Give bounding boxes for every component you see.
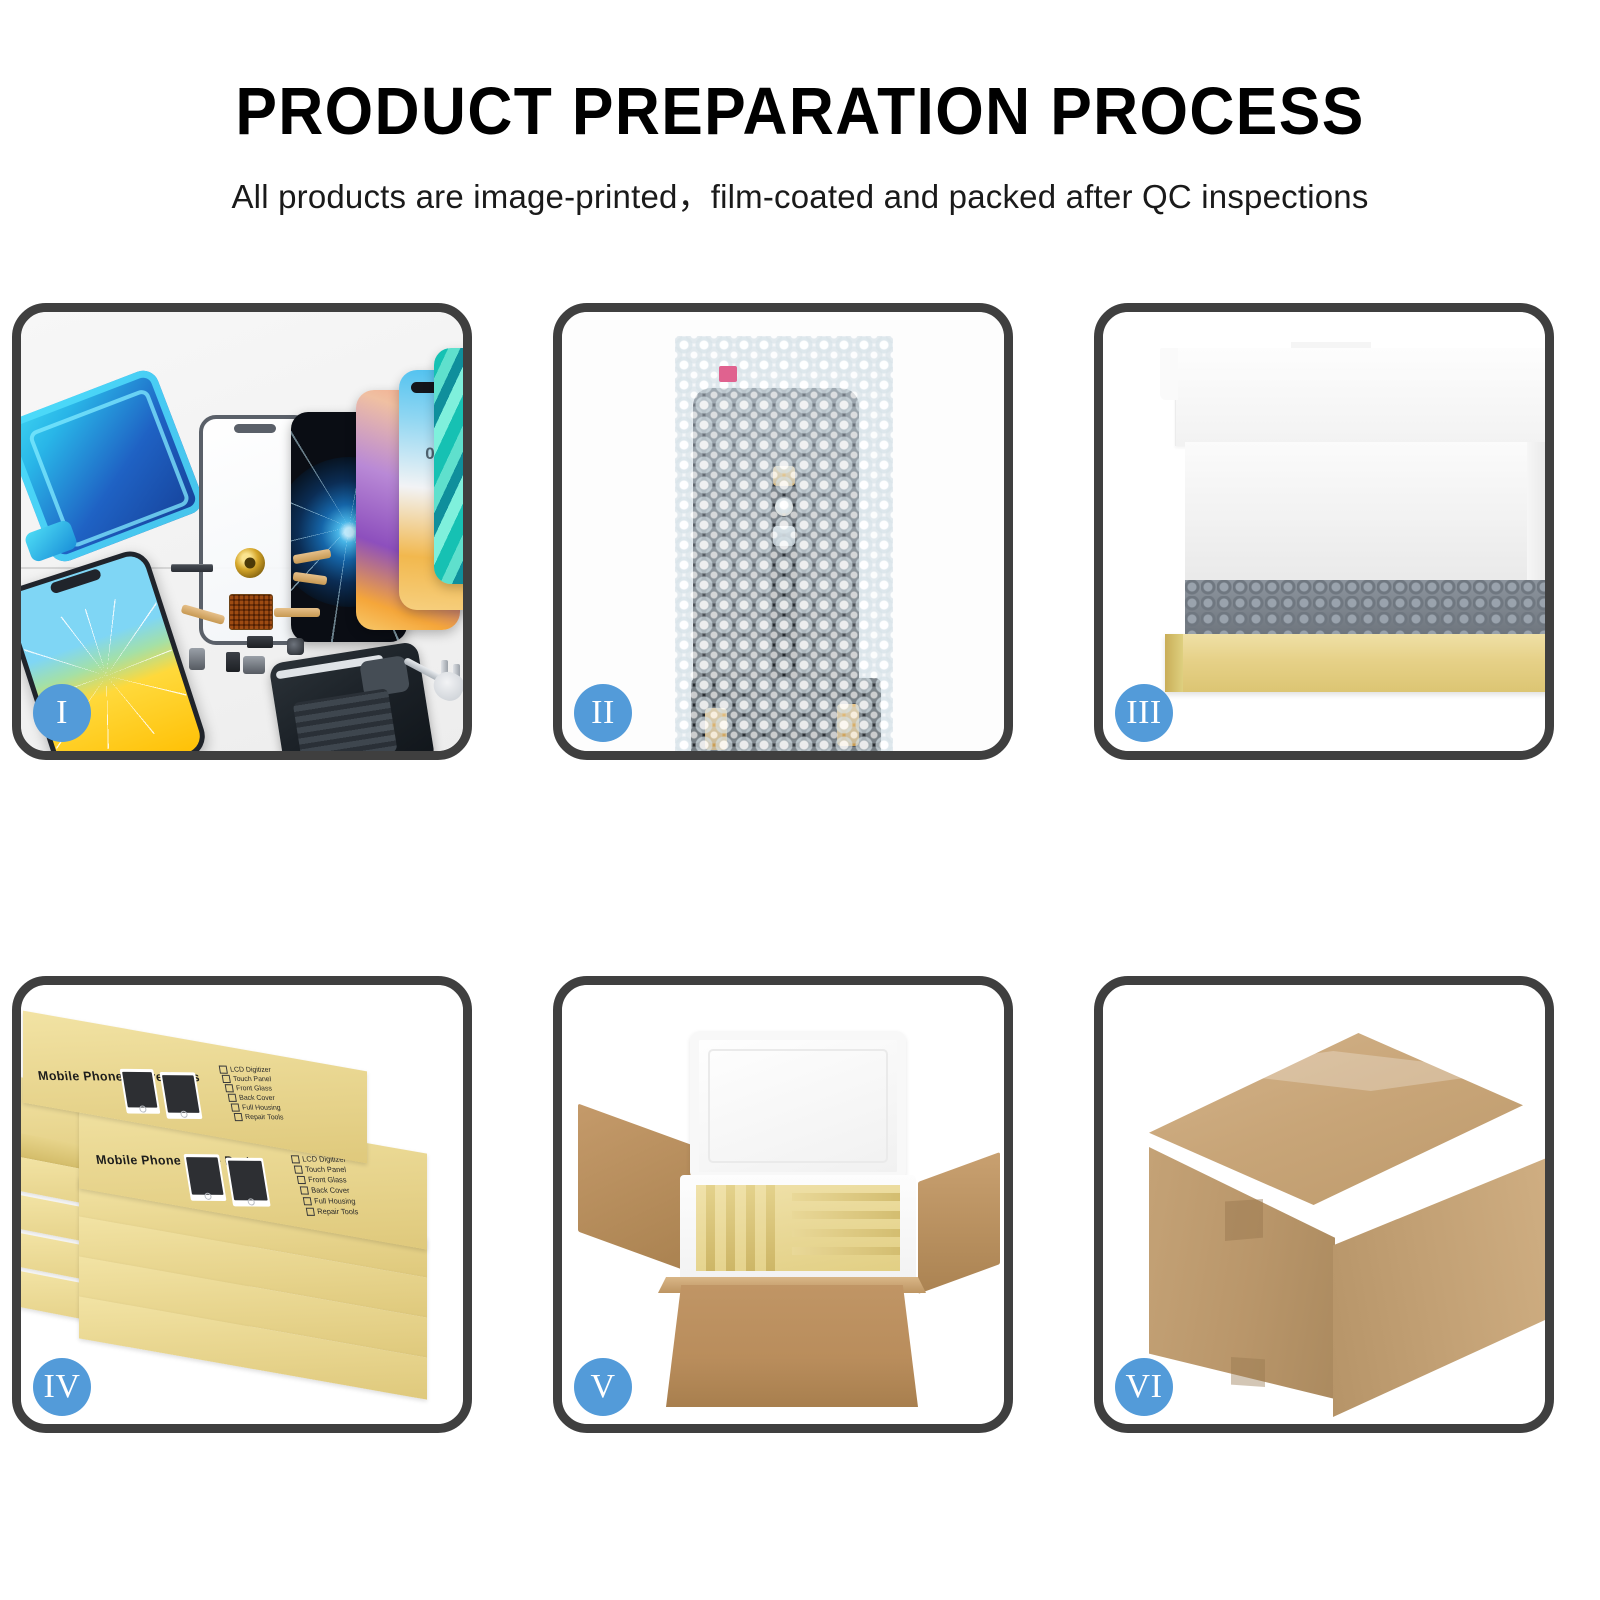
retail-box-check-2: Touch Panel xyxy=(222,1075,272,1084)
step-badge-1: I xyxy=(33,684,91,742)
step-badge-4: IV xyxy=(33,1358,91,1416)
step-2-photo xyxy=(562,312,1004,751)
retail-box-check-5: Full Housing xyxy=(231,1103,282,1112)
mailer-lid-flap xyxy=(1175,348,1545,446)
step-4-photo: Mobile Phone Spare Parts LCD Digitizer T… xyxy=(21,985,463,1424)
retail-box-check-4: Back Cover xyxy=(300,1185,351,1195)
retail-box-thumb-b xyxy=(159,1072,202,1119)
bubble-wrap-sleeve xyxy=(675,336,893,751)
retail-box-check-6: Repair Tools xyxy=(306,1207,359,1217)
step-badge-3: III xyxy=(1115,684,1173,742)
retail-box-check-3: Front Glass xyxy=(297,1175,348,1185)
phone-teal-stripes xyxy=(434,348,463,584)
camera-module-part xyxy=(287,638,304,655)
grey-bubble-foam-lining xyxy=(1185,580,1545,638)
styrofoam-cooler-lid xyxy=(690,1031,906,1181)
carton-tape-tab-upper xyxy=(1225,1199,1263,1241)
step-6-photo xyxy=(1103,985,1545,1424)
internal-battery xyxy=(293,688,398,751)
infographic-page: PRODUCT PREPARATION PROCESS All products… xyxy=(0,0,1600,1600)
retail-box-thumb-b xyxy=(225,1158,270,1207)
mailer-tray-edge xyxy=(1165,634,1183,692)
speaker-mesh-part xyxy=(171,564,213,572)
retail-box-check-5: Full Housing xyxy=(303,1196,356,1206)
ic-chip-part xyxy=(229,594,273,630)
earpiece-part xyxy=(226,652,240,672)
step-badge-5: V xyxy=(574,1358,632,1416)
flex-cable-part-d xyxy=(274,608,320,617)
carton-body xyxy=(666,1285,918,1407)
step-badge-2: II xyxy=(574,684,632,742)
step-1-photo: 08:08 xyxy=(21,312,463,751)
sim-tray-part xyxy=(189,648,205,670)
mailer-tray-base xyxy=(1165,634,1545,692)
retail-boxes-inside-cooler xyxy=(696,1185,900,1271)
retail-box-check-4: Back Cover xyxy=(228,1094,276,1103)
mailer-inner-wall xyxy=(1185,442,1545,592)
battery-connector-part xyxy=(247,636,273,648)
step-3-photo xyxy=(1103,312,1545,751)
wireless-charging-coil-part xyxy=(235,548,265,578)
step-5-photo xyxy=(562,985,1004,1424)
process-step-grid: 08:08 xyxy=(0,0,1600,1600)
retail-box-check-2: Touch Panel xyxy=(294,1165,347,1175)
qc-pink-tag xyxy=(719,366,737,382)
retail-box-check-3: Front Glass xyxy=(225,1084,273,1093)
bubble-texture-overlay xyxy=(675,336,893,751)
vibrator-motor-part xyxy=(243,656,265,674)
retail-box-thumb-a xyxy=(183,1154,226,1201)
step-badge-6: VI xyxy=(1115,1358,1173,1416)
retail-box-check-1: LCD Digitizer xyxy=(219,1066,272,1075)
retail-box-thumb-a xyxy=(120,1069,161,1114)
retail-box-check-6: Repair Tools xyxy=(234,1113,284,1122)
carton-tape-tab-lower xyxy=(1231,1357,1265,1387)
